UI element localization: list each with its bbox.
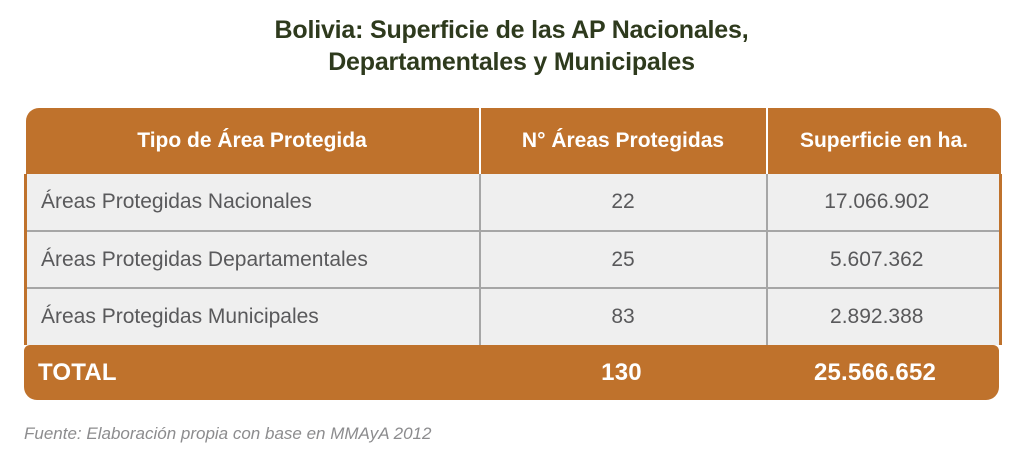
cell-tipo: Áreas Protegidas Municipales [26, 288, 480, 345]
table: Tipo de Área Protegida N° Áreas Protegid… [24, 108, 1002, 345]
table-figure: Bolivia: Superficie de las AP Nacionales… [0, 0, 1023, 470]
column-header-tipo: Tipo de Área Protegida [26, 108, 480, 174]
cell-superficie: 17.066.902 [767, 174, 1001, 231]
total-superficie: 25.566.652 [765, 359, 999, 387]
cell-numero: 25 [480, 231, 767, 288]
cell-numero: 83 [480, 288, 767, 345]
cell-numero: 22 [480, 174, 767, 231]
table-header-row: Tipo de Área Protegida N° Áreas Protegid… [26, 108, 1001, 174]
source-note: Fuente: Elaboración propia con base en M… [24, 424, 431, 444]
table-row: Áreas Protegidas Municipales 83 2.892.38… [26, 288, 1001, 345]
page-title-line-1: Bolivia: Superficie de las AP Nacionales… [0, 14, 1023, 46]
cell-tipo: Áreas Protegidas Nacionales [26, 174, 480, 231]
column-header-numero: N° Áreas Protegidas [480, 108, 767, 174]
table-row: Áreas Protegidas Nacionales 22 17.066.90… [26, 174, 1001, 231]
page-title: Bolivia: Superficie de las AP Nacionales… [0, 14, 1023, 78]
protected-areas-table: Tipo de Área Protegida N° Áreas Protegid… [24, 108, 999, 400]
table-row: Áreas Protegidas Departamentales 25 5.60… [26, 231, 1001, 288]
page-title-line-2: Departamentales y Municipales [0, 46, 1023, 78]
column-header-superficie: Superficie en ha. [767, 108, 1001, 174]
total-numero: 130 [478, 359, 765, 387]
table-header: Tipo de Área Protegida N° Áreas Protegid… [26, 108, 1001, 174]
table-body: Áreas Protegidas Nacionales 22 17.066.90… [26, 174, 1001, 345]
cell-superficie: 2.892.388 [767, 288, 1001, 345]
table-total-row: TOTAL 130 25.566.652 [24, 345, 999, 400]
cell-tipo: Áreas Protegidas Departamentales [26, 231, 480, 288]
cell-superficie: 5.607.362 [767, 231, 1001, 288]
total-label: TOTAL [24, 359, 478, 387]
